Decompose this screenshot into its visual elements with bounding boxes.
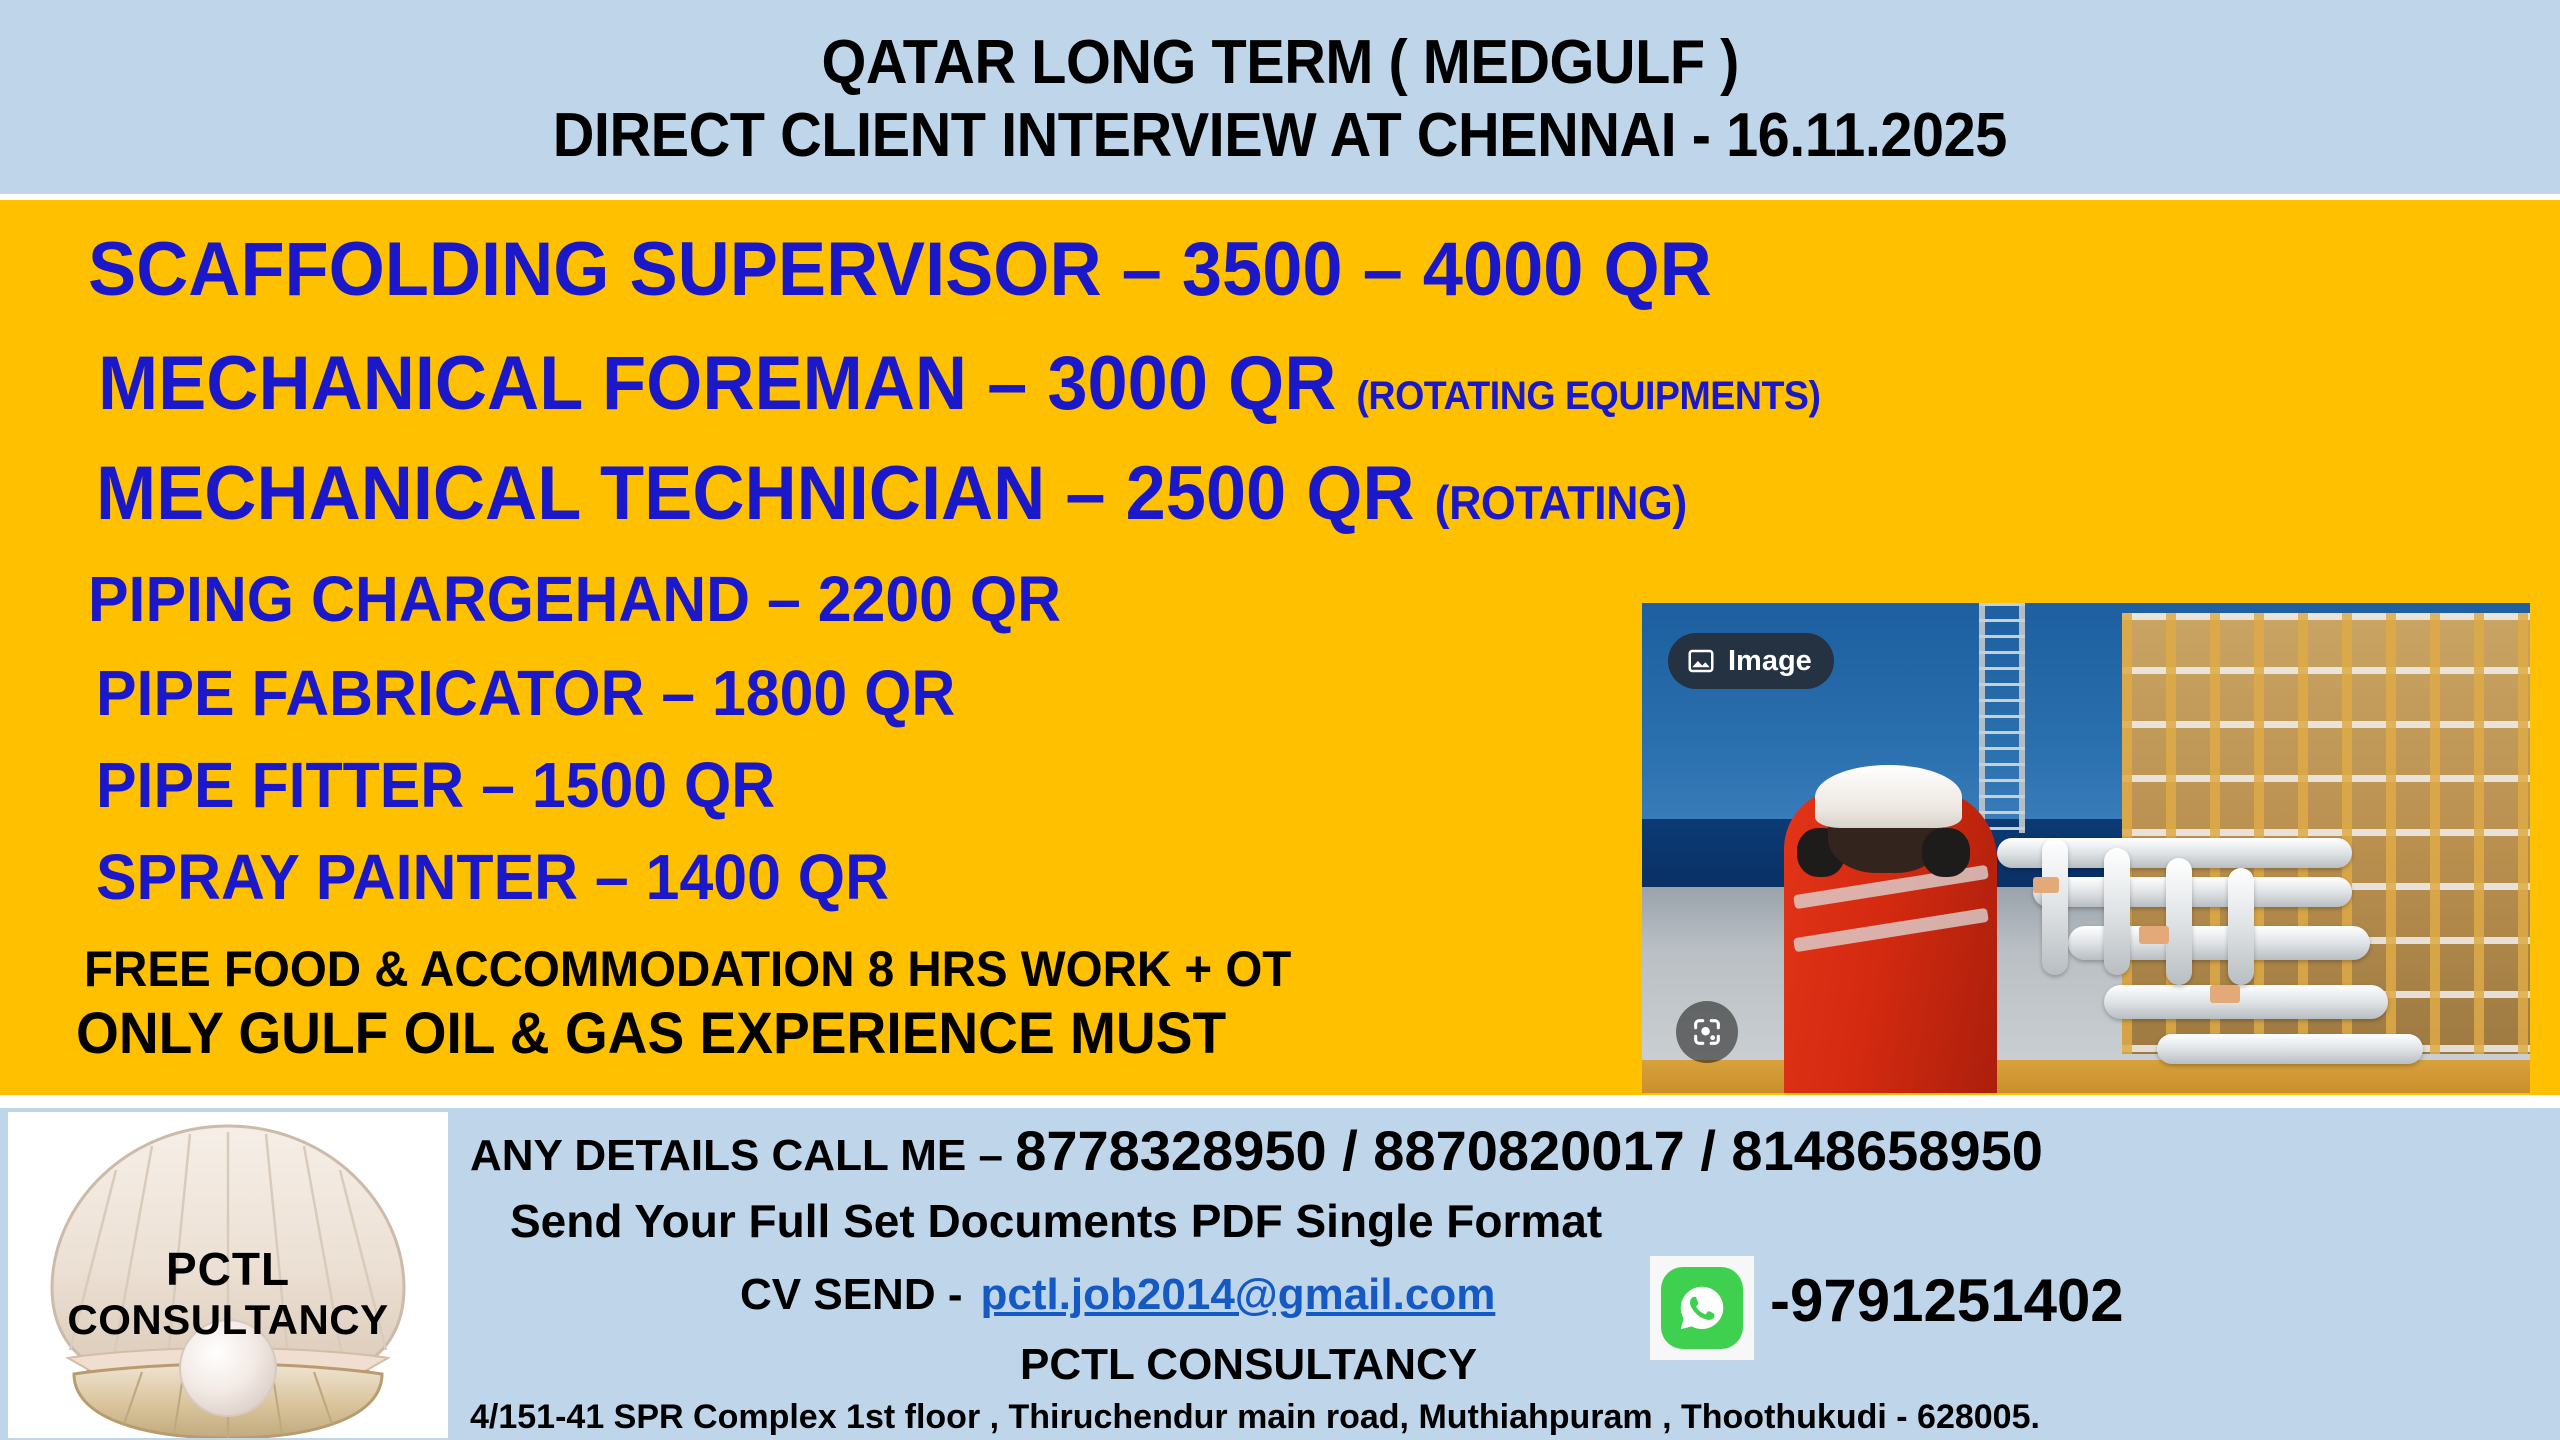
job-row: SCAFFOLDING SUPERVISOR – 3500 – 4000 QR bbox=[88, 226, 1712, 313]
whatsapp-icon[interactable] bbox=[1650, 1256, 1754, 1360]
job-suffix: (ROTATING EQUIPMENTS) bbox=[1356, 374, 1820, 418]
photo-derrick-tower bbox=[1979, 603, 2025, 833]
oil-and-gas-platform-photo: Image bbox=[1642, 603, 2530, 1093]
job-row: PIPE FABRICATOR – 1800 QR bbox=[96, 656, 955, 730]
photo-pipe-riser bbox=[2042, 838, 2068, 975]
job-title: SPRAY PAINTER bbox=[96, 841, 578, 913]
image-badge-label: Image bbox=[1728, 645, 1812, 678]
job-salary: 3500 – 4000 QR bbox=[1182, 227, 1712, 312]
job-dash: – bbox=[595, 841, 629, 913]
job-salary: 1400 QR bbox=[646, 841, 889, 913]
photo-hi-vis-stripe bbox=[1793, 908, 1989, 952]
benefits-note: FREE FOOD & ACCOMMODATION 8 HRS WORK + O… bbox=[84, 940, 1291, 998]
photo-ear-defender bbox=[1922, 828, 1970, 877]
job-salary: 1800 QR bbox=[712, 657, 955, 729]
pctl-logo: PCTL CONSULTANCY bbox=[8, 1112, 448, 1438]
documents-note: Send Your Full Set Documents PDF Single … bbox=[510, 1194, 1602, 1248]
whatsapp-number[interactable]: -9791251402 bbox=[1770, 1266, 2124, 1335]
company-name: PCTL CONSULTANCY bbox=[1020, 1340, 1477, 1390]
photo-pipe-riser bbox=[2166, 858, 2192, 985]
email-link[interactable]: pctl.job2014@gmail.com bbox=[980, 1270, 1495, 1320]
job-title: MECHANICAL FOREMAN bbox=[98, 341, 967, 426]
job-dash: – bbox=[481, 749, 515, 821]
photo-deck-structure bbox=[1642, 1060, 2530, 1093]
contact-footer: PCTL CONSULTANCY ANY DETAILS CALL ME – 8… bbox=[0, 1108, 2560, 1440]
cv-send-line: CV SEND - pctl.job2014@gmail.com bbox=[740, 1270, 1495, 1320]
job-title: PIPE FABRICATOR bbox=[96, 657, 644, 729]
photo-pipe bbox=[2104, 985, 2388, 1019]
job-salary: 2500 QR bbox=[1126, 451, 1415, 536]
header-title-line-1: QATAR LONG TERM ( MEDGULF ) bbox=[821, 31, 1738, 94]
job-listing-section: SCAFFOLDING SUPERVISOR – 3500 – 4000 QR … bbox=[0, 200, 2560, 1095]
photo-pipe bbox=[2033, 877, 2353, 907]
job-suffix: (ROTATING) bbox=[1435, 476, 1687, 529]
job-title: MECHANICAL TECHNICIAN bbox=[96, 451, 1045, 536]
job-row: MECHANICAL FOREMAN – 3000 QR (ROTATING E… bbox=[98, 340, 1821, 427]
job-row: MECHANICAL TECHNICIAN – 2500 QR (ROTATIN… bbox=[96, 450, 1687, 537]
job-title: PIPE FITTER bbox=[96, 749, 464, 821]
pctl-logo-line-2: CONSULTANCY bbox=[8, 1296, 448, 1343]
header-title-line-2: DIRECT CLIENT INTERVIEW AT CHENNAI - 16.… bbox=[553, 104, 2007, 167]
image-badge: Image bbox=[1668, 633, 1834, 689]
call-us-line: ANY DETAILS CALL ME – 8778328950 / 88708… bbox=[470, 1118, 2043, 1183]
job-dash: – bbox=[987, 341, 1027, 426]
photo-pipe bbox=[2157, 1034, 2423, 1064]
photo-pipe-riser bbox=[2228, 868, 2254, 986]
photo-pipe-band bbox=[2210, 985, 2240, 1003]
poster-header: QATAR LONG TERM ( MEDGULF ) DIRECT CLIEN… bbox=[0, 0, 2560, 194]
job-advertisement-poster: QATAR LONG TERM ( MEDGULF ) DIRECT CLIEN… bbox=[0, 0, 2560, 1440]
job-row: SPRAY PAINTER – 1400 QR bbox=[96, 840, 889, 914]
pctl-logo-line-1: PCTL bbox=[8, 1244, 448, 1296]
whatsapp-separator: - bbox=[1770, 1267, 1790, 1334]
job-title: PIPING CHARGEHAND bbox=[88, 563, 750, 635]
job-dash: – bbox=[661, 657, 695, 729]
lens-search-icon[interactable] bbox=[1676, 1001, 1738, 1063]
job-dash: – bbox=[1122, 227, 1162, 312]
job-dash: – bbox=[1065, 451, 1105, 536]
call-label: ANY DETAILS CALL ME – bbox=[470, 1131, 1003, 1180]
pctl-logo-text: PCTL CONSULTANCY bbox=[8, 1244, 448, 1343]
experience-requirement-note: ONLY GULF OIL & GAS EXPERIENCE MUST bbox=[76, 1000, 1226, 1067]
whatsapp-glyph bbox=[1661, 1267, 1743, 1349]
job-salary: 1500 QR bbox=[532, 749, 775, 821]
whatsapp-number-value: 9791251402 bbox=[1790, 1267, 2124, 1334]
phone-numbers[interactable]: 8778328950 / 8870820017 / 8148658950 bbox=[1015, 1119, 2043, 1182]
photo-pipe-band bbox=[2033, 877, 2059, 893]
photo-pipe-band bbox=[2139, 926, 2169, 944]
job-row: PIPING CHARGEHAND – 2200 QR bbox=[88, 562, 1061, 636]
job-salary: 3000 QR bbox=[1047, 341, 1336, 426]
job-row: PIPE FITTER – 1500 QR bbox=[96, 748, 775, 822]
job-title: SCAFFOLDING SUPERVISOR bbox=[88, 227, 1102, 312]
picture-icon bbox=[1686, 646, 1716, 676]
cv-send-label: CV SEND - bbox=[740, 1270, 962, 1320]
company-address: 4/151-41 SPR Complex 1st floor , Thiruch… bbox=[470, 1398, 2040, 1437]
photo-pipe-riser bbox=[2104, 848, 2130, 975]
job-salary: 2200 QR bbox=[818, 563, 1061, 635]
photo-safety-helmet bbox=[1815, 765, 1962, 829]
job-dash: – bbox=[767, 563, 801, 635]
